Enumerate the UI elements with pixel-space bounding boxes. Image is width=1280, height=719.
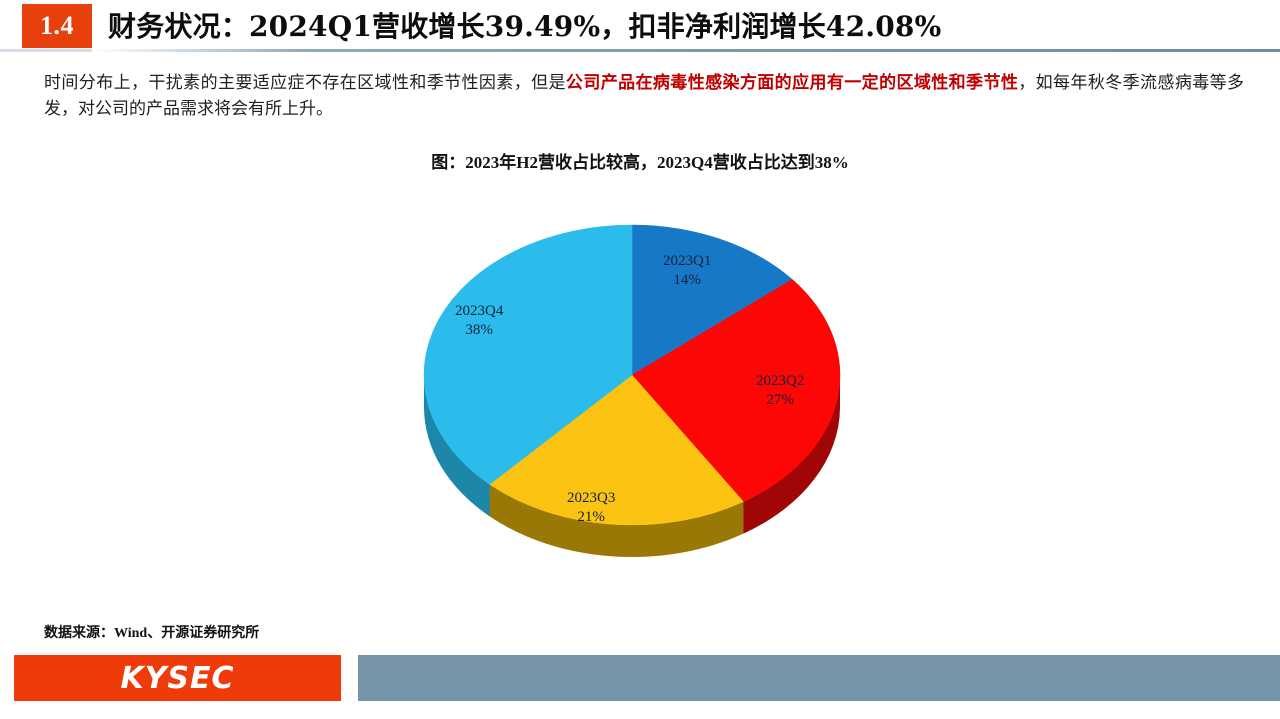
chart-title: 图：2023年H2营收占比较高，2023Q4营收占比达到38% [0,148,1280,173]
pie-slice-label-name: 2023Q4 [455,302,503,321]
pie-chart: 2023Q1 14% 2023Q2 27% 2023Q3 21% 2023Q4 … [0,200,1280,600]
pie-slice-label-q3: 2023Q3 21% [567,489,615,527]
page-title: 财务状况：2024Q1营收增长39.49%，扣非净利润增长42.08% [108,5,941,45]
pie-slice-label-name: 2023Q2 [756,372,804,391]
body-paragraph: 时间分布上，干扰素的主要适应症不存在区域性和季节性因素，但是公司产品在病毒性感染… [44,70,1244,122]
pie-slice-label-q1: 2023Q1 14% [663,252,711,290]
footer-accent-bar [358,655,1280,701]
header-divider [92,49,1280,52]
pie-chart-svg [0,200,1280,600]
paragraph-text-highlight: 公司产品在病毒性感染方面的应用有一定的区域性和季节性 [566,73,1018,92]
pie-slice-label-value: 14% [663,271,711,290]
header-divider-left [0,49,92,52]
pie-slice-label-name: 2023Q3 [567,489,615,508]
slide-header: 1.4 财务状况：2024Q1营收增长39.49%，扣非净利润增长42.08% [0,0,1280,52]
pie-slice-label-name: 2023Q1 [663,252,711,271]
section-number-badge: 1.4 [22,4,92,48]
paragraph-text-leading: 时间分布上，干扰素的主要适应症不存在区域性和季节性因素，但是 [44,73,566,92]
pie-slice-label-q4: 2023Q4 38% [455,302,503,340]
section-number-label: 1.4 [40,13,74,39]
brand-logo-text: KYSEC [120,661,234,696]
pie-slice-label-value: 38% [455,321,503,340]
pie-slice-label-value: 21% [567,508,615,527]
pie-slice-label-value: 27% [756,391,804,410]
footer-brand-bar: KYSEC [14,655,341,701]
source-note: 数据来源：Wind、开源证券研究所 [44,622,259,642]
pie-slice-label-q2: 2023Q2 27% [756,372,804,410]
